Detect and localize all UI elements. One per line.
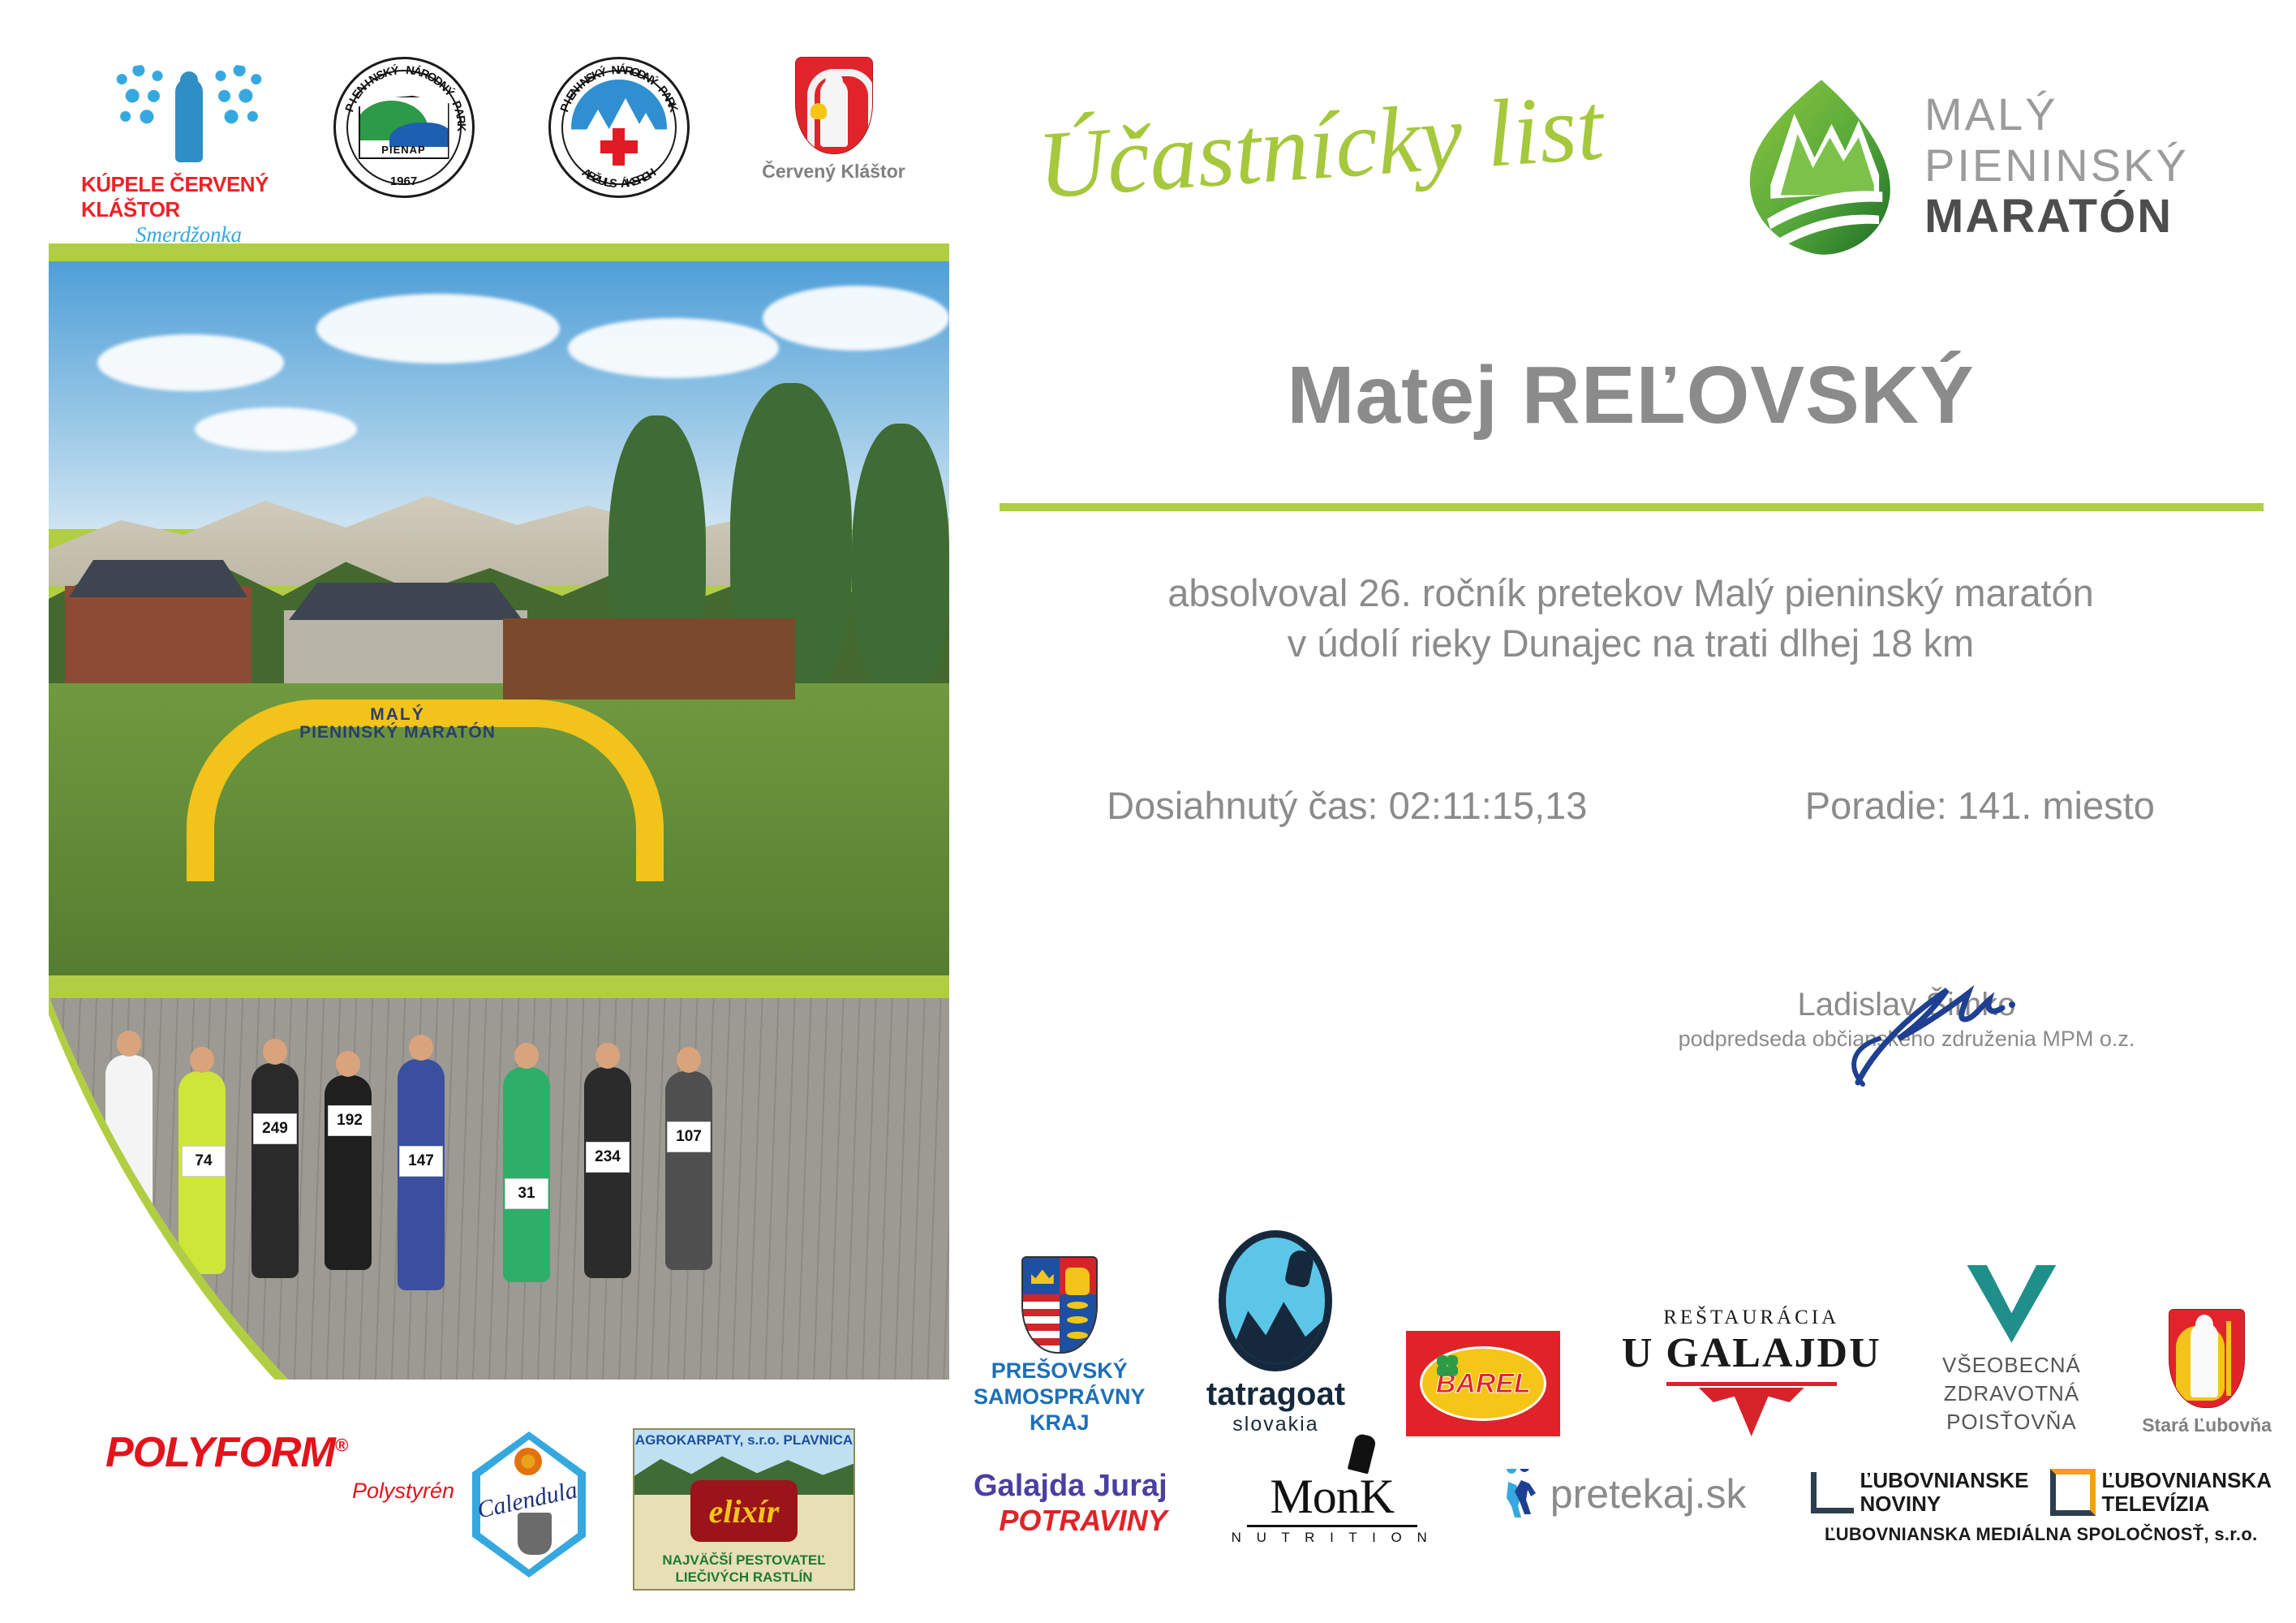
stara-lubovna-caption: Stará Ľubovňa xyxy=(2142,1414,2272,1436)
polyform-wordmark: POLYFORM® xyxy=(105,1428,454,1477)
u-galajdu-wordmark: U GALAJDU xyxy=(1622,1329,1881,1377)
bib-number: 107 xyxy=(667,1121,711,1152)
media-group: ĽUBOVNIANSKENOVINY ĽUBOVNIANSKATELEVÍZIA… xyxy=(1811,1469,2272,1545)
bib-number: 234 xyxy=(586,1142,630,1173)
logo-pieninsky-narodny-park: PIENAP 1967 PIENINSKÝ NÁRODNÝ PARK xyxy=(296,57,511,198)
event-logo: MALÝ PIENINSKÝ MARATÓN xyxy=(1736,65,2272,268)
bib-number: 31 xyxy=(505,1178,548,1209)
partner-logos-row: KÚPELE ČERVENÝ KLÁŠTOR Smerdžonka PIENAP… xyxy=(81,57,941,260)
sponsors-left-row: POLYFORM® Polystyrén Calendula AGROKARPA… xyxy=(105,1428,957,1591)
cerveny-klastor-coat-of-arms-icon xyxy=(795,57,873,154)
hs-ring-bottom: HORSKÁ SLUŽBA xyxy=(551,59,687,196)
restauracia-label: REŠTAURÁCIA xyxy=(1663,1307,1839,1329)
bib-number: 249 xyxy=(253,1113,297,1144)
logo-monk-nutrition: MonK N U T R I T I O N xyxy=(1232,1469,1433,1546)
logo-lubovnianske-noviny: ĽUBOVNIANSKENOVINY xyxy=(1811,1469,2029,1515)
nutrition-label: N U T R I T I O N xyxy=(1232,1530,1433,1546)
horska-sluzba-seal-icon: PIENINSKÝ NÁRODNÝ PARK HORSKÁ SLUŽBA xyxy=(548,57,690,198)
pienap-ring-text: PIENINSKÝ NÁRODNÝ PARK xyxy=(336,59,472,196)
logo-horska-sluzba: PIENINSKÝ NÁRODNÝ PARK HORSKÁ SLUŽBA xyxy=(511,57,726,198)
vzp-wordmark: VŠEOBECNÁ ZDRAVOTNÁ POISŤOVŇA xyxy=(1942,1351,2081,1436)
bib-number: 74 xyxy=(182,1146,226,1177)
logo-pretekaj-sk: pretekaj.sk xyxy=(1497,1469,1747,1519)
tatragoat-tagline: slovakia xyxy=(1232,1413,1318,1436)
mountain-leaf-icon xyxy=(1736,73,1907,260)
logo-stara-lubovna: Stará Ľubovňa xyxy=(2142,1309,2272,1436)
sponsors-mid-row: PREŠOVSKÝ SAMOSPRÁVNY KRAJ tatragoat slo… xyxy=(974,1233,2272,1436)
signature-block: Ladislav Šimko podpredseda občianskeho z… xyxy=(1623,998,2191,1052)
elixir-brand: elixír xyxy=(690,1480,798,1542)
logo-restauracia-u-galajdu: REŠTAURÁCIA U GALAJDU xyxy=(1622,1307,1881,1436)
bib-number: 147 xyxy=(399,1146,443,1177)
logo-galajda-juraj: Galajda Juraj POTRAVINY xyxy=(974,1469,1167,1538)
psk-wordmark: PREŠOVSKÝ SAMOSPRÁVNY KRAJ xyxy=(974,1358,1146,1436)
lt-monogram-icon xyxy=(2050,1469,2096,1516)
potraviny-wordmark: POTRAVINY xyxy=(999,1504,1167,1538)
goat-mountain-icon xyxy=(1219,1230,1332,1371)
handwritten-signature-icon xyxy=(1809,969,2053,1091)
event-photo: MALÝ PIENINSKÝ MARATÓN 209 74 249 192 14… xyxy=(49,261,949,1380)
divider-line xyxy=(1247,1525,1417,1527)
cerveny-klastor-caption: Červený Kláštor xyxy=(762,161,905,183)
description-line-2: v údolí rieky Dunajec na trati dlhej 18 … xyxy=(998,618,2264,669)
event-photo-panel: MALÝ PIENINSKÝ MARATÓN 209 74 249 192 14… xyxy=(49,243,949,1380)
runner xyxy=(503,1067,550,1282)
psk-coat-of-arms-icon xyxy=(1021,1256,1098,1354)
runner xyxy=(665,1071,712,1270)
media-company-label: ĽUBOVNIANSKA MEDIÁLNA SPOLOČNOSŤ, s.r.o. xyxy=(1825,1524,2258,1545)
logo-lubovnianska-televizia: ĽUBOVNIANSKATELEVÍZIA xyxy=(2050,1469,2272,1516)
runner xyxy=(252,1063,299,1278)
spa-angel-icon xyxy=(112,57,266,170)
bib-number: 209 xyxy=(107,1219,151,1250)
results-row: Dosiahnutý čas: 02:11:15,13 Poradie: 141… xyxy=(998,783,2264,828)
page-title: Účastnícky list xyxy=(1034,68,1660,257)
marigold-flower-icon xyxy=(514,1448,542,1475)
runner xyxy=(584,1067,631,1278)
clover-icon xyxy=(1437,1355,1458,1376)
logo-presovsky-samospravny-kraj: PREŠOVSKÝ SAMOSPRÁVNY KRAJ xyxy=(974,1256,1146,1436)
logo-cerveny-klastor: Červený Kláštor xyxy=(726,57,941,183)
participant-name: Matej REĽOVSKÝ xyxy=(998,349,2264,442)
running-monk-icon xyxy=(1348,1433,1377,1474)
logo-vseobecna-zdravotna-poistovna: VŠEOBECNÁ ZDRAVOTNÁ POISŤOVŇA xyxy=(1942,1265,2081,1436)
mortar-pestle-icon xyxy=(518,1513,552,1555)
folk-ornament-icon xyxy=(1699,1388,1804,1436)
vzp-chevron-icon xyxy=(1967,1265,2056,1343)
result-time: Dosiahnutý čas: 02:11:15,13 xyxy=(1107,783,1587,828)
monk-wordmark: MonK xyxy=(1270,1469,1394,1525)
kupele-label-1: KÚPELE ČERVENÝ KLÁŠTOR xyxy=(81,172,296,222)
certificate-description: absolvoval 26. ročník pretekov Malý pien… xyxy=(998,568,2264,669)
logo-polyform: POLYFORM® Polystyrén xyxy=(105,1428,454,1504)
ln-wordmark: ĽUBOVNIANSKENOVINY xyxy=(1860,1469,2029,1515)
ln-monogram-icon xyxy=(1811,1472,1854,1513)
pienap-seal-icon: PIENAP 1967 PIENINSKÝ NÁRODNÝ PARK xyxy=(333,57,475,198)
race-arch-label: MALÝ PIENINSKÝ MARATÓN xyxy=(252,706,544,742)
barel-badge-icon: BAREL xyxy=(1406,1331,1560,1436)
agrokarpaty-tagline: NAJVÄČŠÍ PESTOVATEĽ LIEČIVÝCH RASTLÍN xyxy=(634,1552,853,1586)
polyform-tagline: Polystyrén xyxy=(105,1479,454,1504)
result-place: Poradie: 141. miesto xyxy=(1805,783,2155,828)
sponsors-bottom-row: Galajda Juraj POTRAVINY MonK N U T R I T… xyxy=(974,1469,2272,1599)
logo-agrokarpaty: AGROKARPATY, s.r.o. PLAVNICA elixír NAJV… xyxy=(633,1428,855,1591)
logo-calendula: Calendula xyxy=(454,1428,600,1574)
runner xyxy=(325,1075,372,1270)
divider-line xyxy=(1666,1382,1837,1386)
description-line-1: absolvoval 26. ročník pretekov Malý pien… xyxy=(998,568,2264,618)
divider xyxy=(1000,503,2264,511)
galajda-wordmark: Galajda Juraj xyxy=(974,1469,1167,1504)
logo-barel: BAREL xyxy=(1406,1331,1560,1436)
tatragoat-wordmark: tatragoat xyxy=(1206,1376,1345,1413)
stara-lubovna-coat-of-arms-icon xyxy=(2169,1309,2245,1408)
event-logo-wordmark: MALÝ PIENINSKÝ MARATÓN xyxy=(1924,89,2189,243)
logo-kupele-cerveny-klastor: KÚPELE ČERVENÝ KLÁŠTOR Smerdžonka xyxy=(81,57,296,248)
agrokarpaty-header: AGROKARPATY, s.r.o. PLAVNICA xyxy=(634,1432,853,1449)
pretekaj-wordmark: pretekaj.sk xyxy=(1550,1470,1747,1518)
bib-number: 192 xyxy=(328,1105,372,1136)
lt-wordmark: ĽUBOVNIANSKATELEVÍZIA xyxy=(2102,1469,2272,1515)
logo-tatragoat: tatragoat slovakia xyxy=(1206,1230,1345,1436)
runner-icon xyxy=(1497,1469,1542,1519)
